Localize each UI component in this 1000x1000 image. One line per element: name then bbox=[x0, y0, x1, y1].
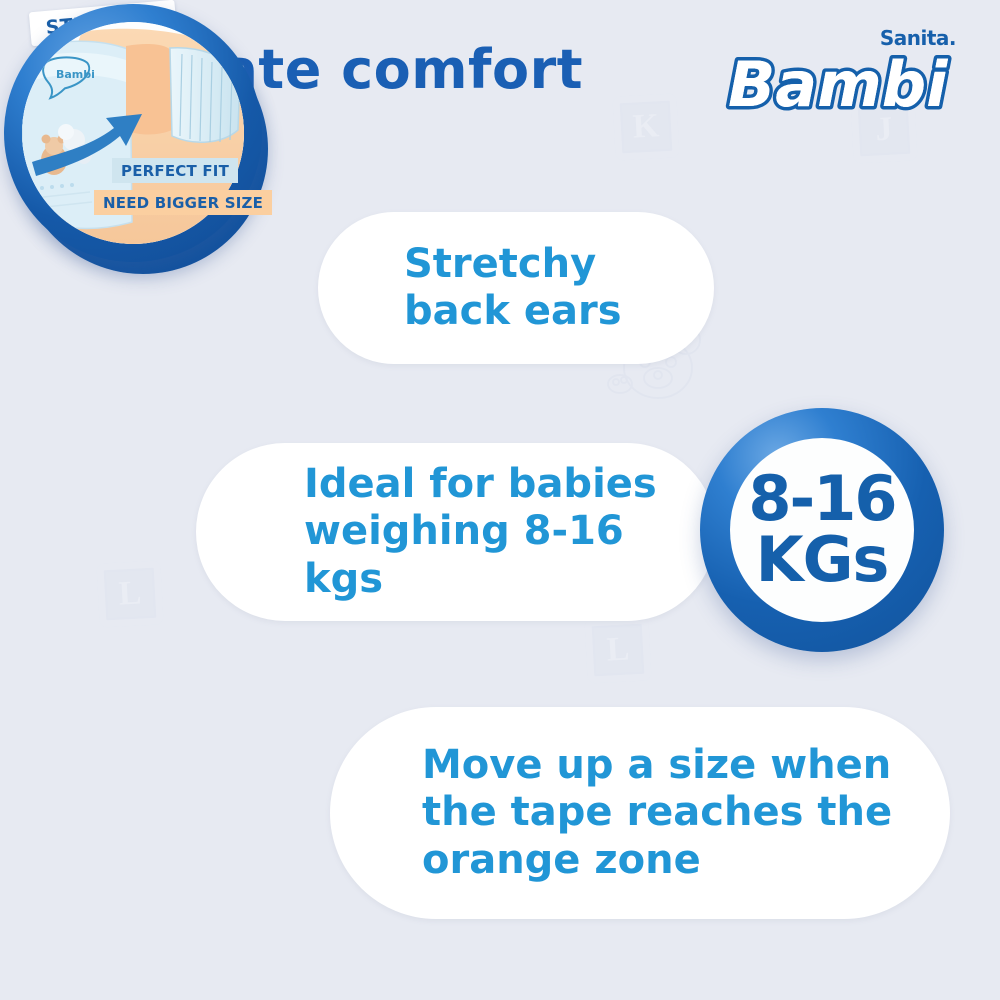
feature-2-line-2: weighing 8-16 kgs bbox=[304, 508, 716, 602]
watermark-block-k: K bbox=[614, 95, 678, 159]
brand-logo: Sanita. Bambi Bambi bbox=[722, 22, 972, 132]
svg-text:Bambi: Bambi bbox=[728, 48, 948, 121]
label-need-bigger-size: NEED BIGGER SIZE bbox=[94, 190, 272, 215]
feature-card-move-up-a-size: Move up a size when the tape reaches the… bbox=[330, 707, 950, 919]
weight-range-badge-inner: 8-16 KGs bbox=[730, 438, 914, 622]
weight-range-value: 8-16 bbox=[748, 470, 895, 529]
weight-range-badge: 8-16 KGs bbox=[700, 408, 944, 652]
feature-3-line-3: orange zone bbox=[422, 837, 892, 884]
watermark-block-l1: L bbox=[98, 562, 162, 626]
infographic-canvas: K J L L Ultimate comfort Sanita. Bambi B… bbox=[0, 0, 1000, 1000]
feature-2-text: Ideal for babies weighing 8-16 kgs bbox=[304, 461, 716, 603]
label-perfect-fit-text: PERFECT FIT bbox=[121, 162, 229, 180]
label-need-bigger-size-text: NEED BIGGER SIZE bbox=[103, 194, 263, 212]
feature-1-line-1: Stretchy bbox=[404, 241, 622, 288]
weight-range-unit: KGs bbox=[756, 531, 889, 590]
feature-card-weight-range: Ideal for babies weighing 8-16 kgs bbox=[196, 443, 716, 621]
watermark-block-l2-letter: L bbox=[606, 630, 631, 669]
watermark-block-k-letter: K bbox=[632, 107, 660, 146]
watermark-block-l1-letter: L bbox=[118, 574, 143, 613]
feature-3-line-1: Move up a size when bbox=[422, 742, 892, 789]
label-perfect-fit: PERFECT FIT bbox=[112, 158, 238, 183]
feature-3-text: Move up a size when the tape reaches the… bbox=[422, 742, 892, 884]
bambi-wordmark: Bambi Bambi bbox=[722, 44, 952, 124]
feature-3-line-2: the tape reaches the bbox=[422, 789, 892, 836]
feature-1-line-2: back ears bbox=[404, 288, 622, 335]
watermark-block-l2: L bbox=[586, 618, 650, 682]
feature-2-line-1: Ideal for babies bbox=[304, 461, 716, 508]
svg-text:Bambi: Bambi bbox=[56, 68, 95, 81]
feature-card-stretchy-back-ears: Stretchy back ears bbox=[318, 212, 714, 364]
feature-1-text: Stretchy back ears bbox=[404, 241, 622, 335]
